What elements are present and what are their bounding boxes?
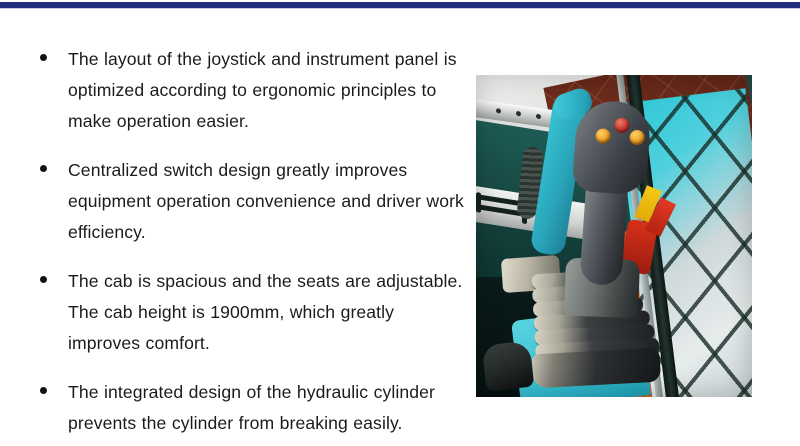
bullet-item-text: The layout of the joystick and instrumen…	[68, 49, 457, 131]
photo-joystick	[554, 98, 658, 334]
list-item: The cab is spacious and the seats are ad…	[34, 266, 464, 359]
excavator-cab-joystick-photo	[476, 75, 752, 397]
list-item: Centralized switch design greatly improv…	[34, 155, 464, 248]
bullet-item-text: Centralized switch design greatly improv…	[68, 160, 464, 242]
bullet-point-icon	[40, 165, 47, 172]
photo-operator-boot	[482, 341, 535, 392]
photo-joystick-amber-button-right	[629, 129, 645, 145]
bullet-item-text: The cab is spacious and the seats are ad…	[68, 271, 462, 353]
photo-joystick-red-button	[614, 117, 630, 133]
bullet-point-icon	[40, 387, 47, 394]
feature-bullet-list: The layout of the joystick and instrumen…	[34, 44, 464, 446]
top-accent-rule-shadow	[0, 8, 800, 9]
photo-content	[476, 75, 752, 397]
list-item: The integrated design of the hydraulic c…	[34, 377, 464, 439]
list-item: The layout of the joystick and instrumen…	[34, 44, 464, 137]
bullet-point-icon	[40, 276, 47, 283]
bullet-point-icon	[40, 54, 47, 61]
photo-boot-base	[531, 348, 661, 389]
photo-joystick-amber-button-left	[595, 128, 611, 144]
photo-joystick-head	[572, 99, 652, 196]
bullet-item-text: The integrated design of the hydraulic c…	[68, 382, 435, 433]
slide-canvas: The layout of the joystick and instrumen…	[0, 0, 800, 446]
